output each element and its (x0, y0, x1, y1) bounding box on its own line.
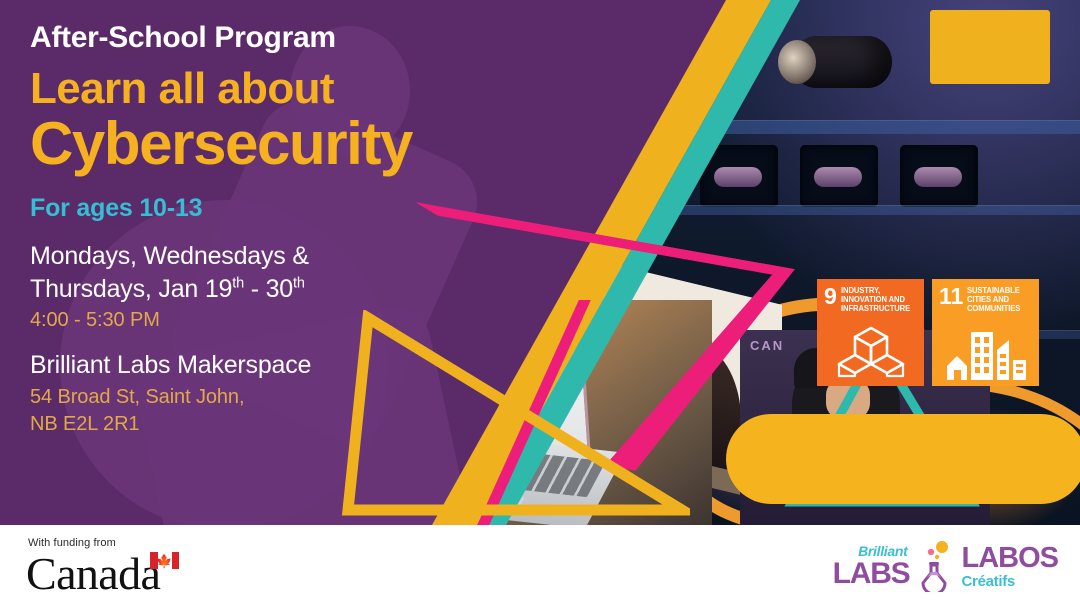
schedule-time: 4:00 - 5:30 PM (30, 309, 550, 332)
canada-flag-icon: 🍁 (150, 552, 179, 569)
schedule-line-1: Mondays, Wednesdays & (30, 242, 309, 270)
rack-port-label: COM B (606, 114, 638, 124)
maple-leaf-icon: 🍁 (156, 554, 172, 567)
venue-address: 54 Broad St, Saint John, NB E2L 2R1 (30, 384, 550, 438)
city-buildings-icon (932, 324, 1039, 380)
sdg-title: SUSTAINABLE CITIES AND COMMUNITIES (967, 286, 1026, 313)
sdg-badge-9: 9 INDUSTRY, INNOVATION AND INFRASTRUCTUR… (817, 279, 924, 386)
program-kicker: After-School Program (30, 21, 550, 55)
sdg-badge-group: 9 INDUSTRY, INNOVATION AND INFRASTRUCTUR… (817, 279, 1039, 386)
rack-lens (792, 36, 892, 88)
venue-name: Brilliant Labs Makerspace (30, 351, 550, 380)
sdg-badge-11: 11 SUSTAINABLE CITIES AND COMMUNITIES (932, 279, 1039, 386)
cubes-icon (817, 324, 924, 380)
address-line-2: NB E2L 2R1 (30, 413, 139, 435)
brilliant-labs-logo: Brilliant LABS LABOS Créatifs (833, 539, 1058, 593)
schedule-dates: Mondays, Wednesdays & Thursdays, Jan 19t… (30, 240, 550, 305)
flag-right-bar (172, 552, 180, 569)
brilliant-labs-wordmark-fr: LABOS Créatifs (962, 544, 1059, 589)
age-range: For ages 10-13 (30, 194, 550, 223)
headline-line-1: Learn all about (30, 67, 550, 111)
poster-artwork: COM B COM (0, 0, 1080, 525)
schedule-line-2-prefix: Thursdays, Jan 19 (30, 275, 232, 303)
sdg-title: INDUSTRY, INNOVATION AND INFRASTRUCTURE (841, 286, 911, 313)
labos-text: LABOS (962, 544, 1059, 573)
address-line-1: 54 Broad St, Saint John, (30, 386, 244, 408)
labs-text: LABS (833, 559, 910, 589)
yellow-callout-banner (726, 414, 1080, 504)
poster-footer: With funding from Canada 🍁 Brilliant LAB… (0, 525, 1080, 608)
headline-line-2: Cybersecurity (30, 114, 550, 174)
flag-center: 🍁 (158, 552, 172, 569)
rack-port (900, 145, 978, 207)
poster-canvas: COM B COM (0, 0, 1080, 608)
date-ordinal-suffix: th (293, 275, 305, 291)
rack-port (800, 145, 878, 207)
flask-icon (915, 540, 955, 592)
sdg-number: 11 (939, 286, 963, 306)
canada-wordmark: Canada (26, 551, 160, 597)
rack-shelf (550, 120, 1080, 134)
brilliant-text: Brilliant (858, 544, 907, 558)
creatifs-text: Créatifs (962, 574, 1059, 589)
sdg-badge-header: 11 SUSTAINABLE CITIES AND COMMUNITIES (939, 286, 1032, 313)
date-ordinal-suffix: th (232, 275, 244, 291)
brilliant-labs-wordmark-en: Brilliant LABS (833, 544, 910, 589)
schedule-line-2-mid: - 30 (244, 275, 293, 303)
rack-yellow-panel (930, 10, 1050, 84)
sdg-badge-header: 9 INDUSTRY, INNOVATION AND INFRASTRUCTUR… (824, 286, 917, 313)
poster-text-column: After-School Program Learn all about Cyb… (30, 0, 550, 438)
sdg-number: 9 (824, 286, 837, 306)
